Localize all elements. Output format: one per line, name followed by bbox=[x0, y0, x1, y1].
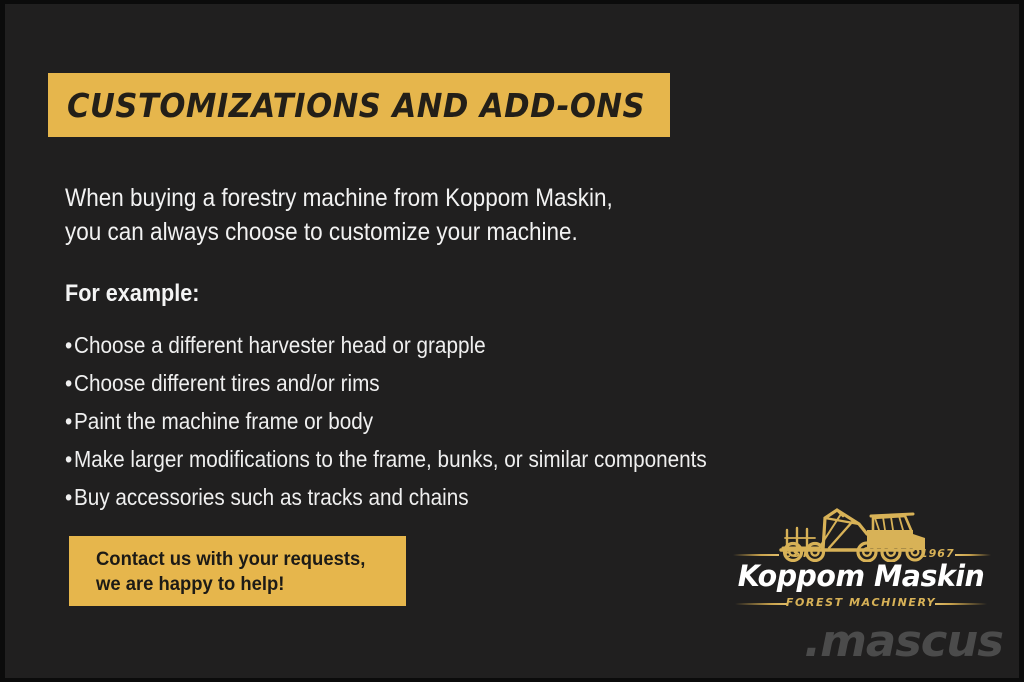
list-item: • Buy accessories such as tracks and cha… bbox=[65, 478, 707, 516]
list-item: • Choose a different harvester head or g… bbox=[65, 326, 707, 364]
intro-paragraph: When buying a forestry machine from Kopp… bbox=[65, 181, 713, 249]
list-item: • Choose different tires and/or rims bbox=[65, 364, 707, 402]
bullet-icon: • bbox=[65, 364, 74, 402]
slide-panel: CUSTOMIZATIONS AND ADD-ONS When buying a… bbox=[5, 4, 1019, 678]
bullet-icon: • bbox=[65, 326, 74, 364]
list-item: • Paint the machine frame or body bbox=[65, 402, 707, 440]
divider-rule-left bbox=[733, 554, 779, 556]
bullet-icon: • bbox=[65, 478, 74, 516]
divider-rule-right bbox=[955, 554, 991, 556]
mascus-watermark: .mascus bbox=[746, 616, 1003, 662]
customization-list: • Choose a different harvester head or g… bbox=[65, 326, 707, 516]
title-banner: CUSTOMIZATIONS AND ADD-ONS bbox=[48, 73, 670, 137]
koppom-maskin-logo: EST 1967 Koppom Maskin FOREST MACHINERY bbox=[727, 504, 995, 610]
page-title: CUSTOMIZATIONS AND ADD-ONS bbox=[67, 86, 645, 125]
list-item-label: Choose different tires and/or rims bbox=[74, 364, 380, 402]
brand-subtitle-row: FOREST MACHINERY bbox=[727, 596, 995, 610]
for-example-label: For example: bbox=[65, 280, 199, 308]
list-item-label: Paint the machine frame or body bbox=[74, 402, 373, 440]
list-item: • Make larger modifications to the frame… bbox=[65, 440, 707, 478]
contact-callout-box[interactable]: Contact us with your requests, we are ha… bbox=[69, 536, 406, 606]
subtitle-rule-right bbox=[935, 603, 987, 605]
bullet-icon: • bbox=[65, 402, 74, 440]
advertisement-slide: CUSTOMIZATIONS AND ADD-ONS When buying a… bbox=[0, 0, 1024, 682]
intro-line-1: When buying a forestry machine from Kopp… bbox=[65, 181, 713, 215]
list-item-label: Choose a different harvester head or gra… bbox=[74, 326, 486, 364]
list-item-label: Buy accessories such as tracks and chain… bbox=[74, 478, 469, 516]
list-item-label: Make larger modifications to the frame, … bbox=[74, 440, 707, 478]
contact-line-1: Contact us with your requests, bbox=[96, 547, 397, 572]
bullet-icon: • bbox=[65, 440, 74, 478]
brand-name: Koppom Maskin bbox=[730, 559, 993, 593]
contact-line-2: we are happy to help! bbox=[96, 572, 397, 597]
intro-line-2: you can always choose to customize your … bbox=[65, 215, 713, 249]
